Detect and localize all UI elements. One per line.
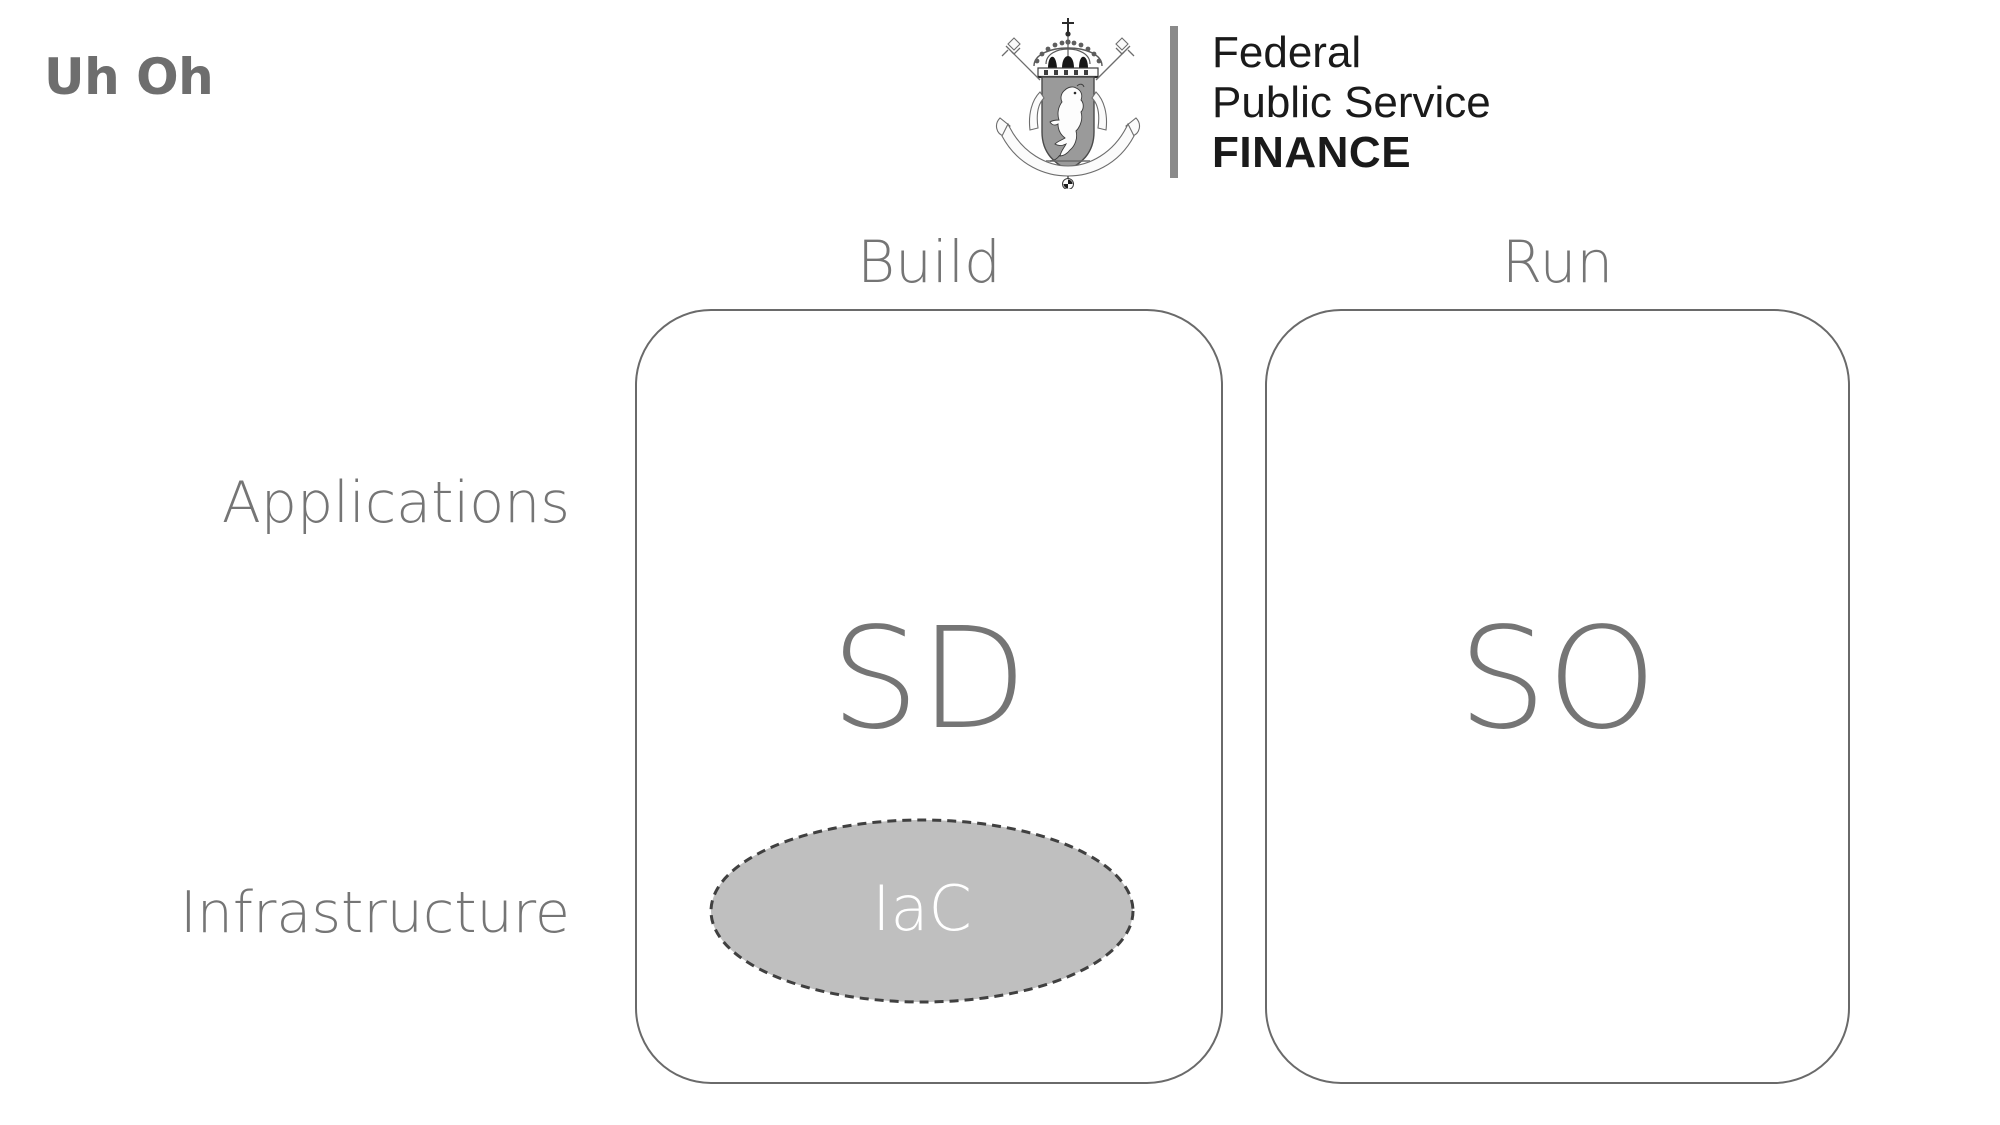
organization-logo: Federal Public Service FINANCE [988,14,1491,189]
row-label-infrastructure: Infrastructure [0,880,570,946]
logo-text-block: Federal Public Service FINANCE [1212,28,1491,178]
phase-code-so: SO [1265,610,1850,750]
column-header-build: Build [635,228,1223,296]
iac-label: IaC [708,878,1136,940]
row-label-applications: Applications [0,470,570,536]
slide-canvas: Uh Oh [0,0,2000,1125]
logo-divider [1170,26,1178,178]
logo-line-public-service: Public Service [1212,78,1491,128]
page-title: Uh Oh [44,48,213,106]
logo-line-federal: Federal [1212,28,1491,78]
phase-code-sd: SD [635,610,1223,750]
belgian-coat-of-arms-crest-icon [988,14,1148,189]
logo-line-finance: FINANCE [1212,128,1491,178]
column-header-run: Run [1265,228,1850,296]
